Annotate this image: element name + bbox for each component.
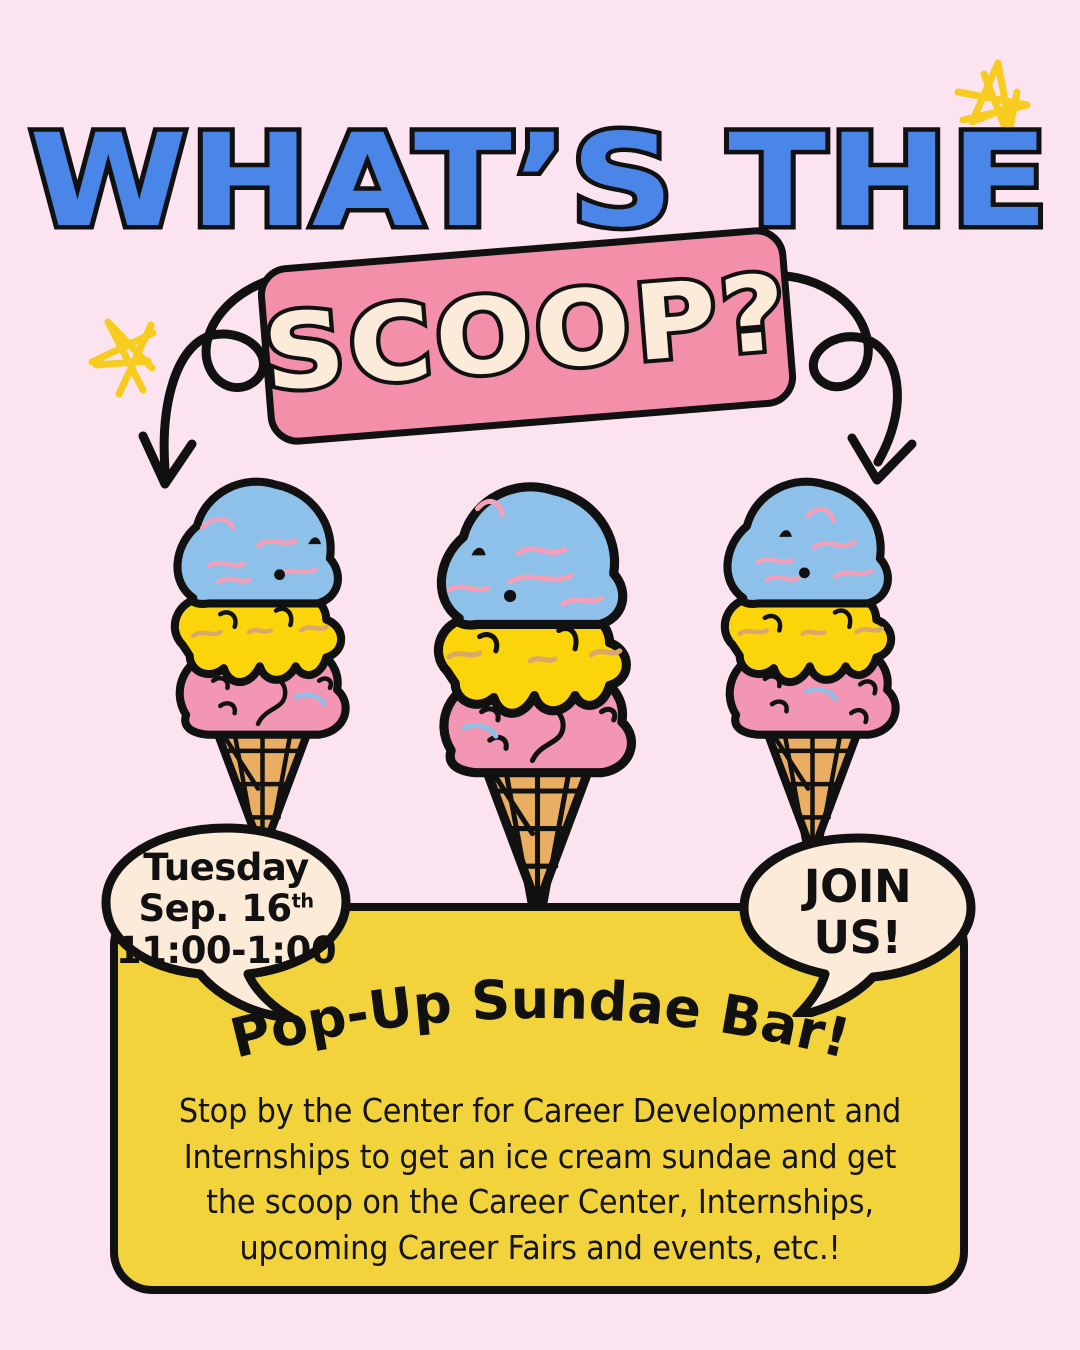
headline-row: WHAT’S THE [0, 118, 1080, 246]
ice-cream-cone-right [700, 465, 925, 865]
bubble-date-day: Tuesday [143, 847, 309, 888]
body-text: Stop by the Center for Career Developmen… [163, 1088, 917, 1270]
scoop-banner-label: SCOOP? [260, 260, 794, 406]
bubble-date-main: Sep. 16 [138, 887, 291, 930]
bubble-date-line: Sep. 16th [138, 888, 313, 929]
ice-cream-cone-center [410, 468, 665, 920]
bubble-join-line2: US! [814, 913, 902, 963]
scoop-banner: SCOOP? [256, 225, 799, 447]
speech-bubble-join: JOIN US! [735, 832, 980, 1017]
ice-cream-cone-left [150, 465, 375, 865]
star-doodle-left [92, 322, 153, 394]
bubble-date-time: 11:00-1:00 [116, 930, 336, 971]
bubble-join-line1: JOIN [804, 862, 911, 912]
poster-canvas: WHAT’S THE SCOOP? [0, 0, 1080, 1350]
page-title: WHAT’S THE [29, 118, 1050, 246]
bubble-date-ordinal: th [292, 890, 314, 913]
speech-bubble-date: Tuesday Sep. 16th 11:00-1:00 [96, 822, 356, 1022]
